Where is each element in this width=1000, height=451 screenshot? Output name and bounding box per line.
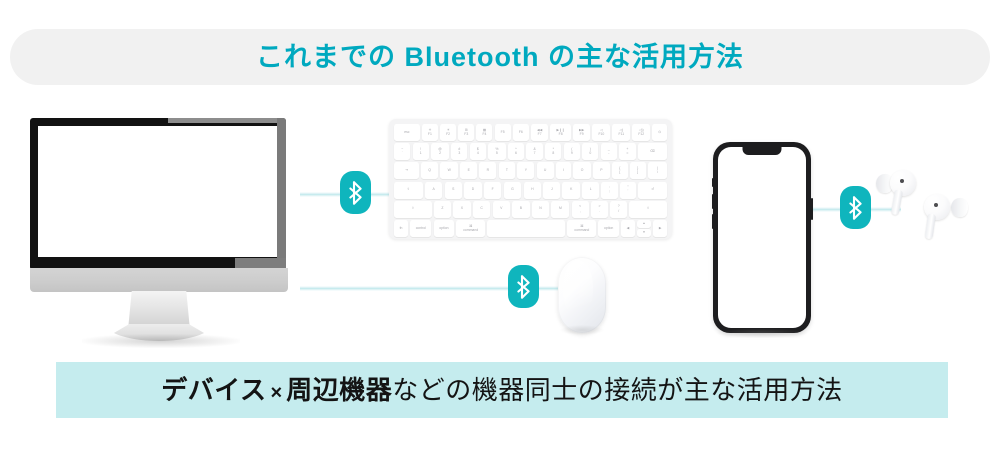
key-blank-1-13[interactable]: ⌫ bbox=[638, 143, 667, 160]
key-f6-0-6[interactable]: F6 bbox=[513, 124, 529, 141]
key-blank-1-4[interactable]: $4 bbox=[470, 143, 486, 160]
key-blank-4-0[interactable]: ⇧ bbox=[394, 201, 432, 218]
key-blank-1-12[interactable]: += bbox=[619, 143, 635, 160]
key-h-3-6[interactable]: H bbox=[524, 182, 542, 199]
key-option-5-6[interactable]: option bbox=[598, 220, 618, 237]
monitor-bezel-top-highlight bbox=[168, 118, 286, 123]
key-l-3-9[interactable]: L bbox=[582, 182, 599, 199]
desktop-monitor bbox=[30, 118, 311, 350]
keyboard-row-qwerty: ⇥QWERTYUIOP{[}]|\ bbox=[394, 162, 667, 179]
key-arrow-up[interactable]: ▲ bbox=[637, 220, 651, 228]
earbud-stem bbox=[891, 189, 903, 215]
caption-strong-1: デバイス bbox=[161, 375, 266, 405]
key-blank-0-1[interactable]: ☀F1 bbox=[422, 124, 438, 141]
wireless-earbuds bbox=[876, 170, 980, 246]
monitor-chin bbox=[30, 268, 288, 292]
key-x-4-2[interactable]: X bbox=[453, 201, 470, 218]
key-blank-4-8[interactable]: <, bbox=[572, 201, 589, 218]
key-blank-1-9[interactable]: (9 bbox=[564, 143, 580, 160]
key-option-5-2[interactable]: option bbox=[434, 220, 454, 237]
key-m-4-7[interactable]: M bbox=[551, 201, 569, 218]
key-fn-5-0[interactable]: fn bbox=[394, 220, 408, 237]
keyboard-row-home: ⇪ASDFGHJKL:;"'⏎ bbox=[394, 182, 667, 199]
key-arrow-down[interactable]: ▼ bbox=[637, 229, 651, 237]
connection-line-monitor-mouse bbox=[300, 286, 512, 291]
bluetooth-icon-monitor-mouse bbox=[508, 265, 539, 308]
header-pill: これまでの Bluetooth の主な活用方法 bbox=[10, 29, 990, 85]
key-n-4-6[interactable]: N bbox=[532, 201, 550, 218]
earbud-sensor-dot bbox=[900, 179, 904, 183]
key-a-3-1[interactable]: A bbox=[425, 182, 442, 199]
key-blank-2-0[interactable]: ⇥ bbox=[394, 162, 419, 179]
key-blank-1-5[interactable]: %5 bbox=[488, 143, 505, 160]
key-blank-1-10[interactable]: )0 bbox=[582, 143, 598, 160]
key-p-2-10[interactable]: P bbox=[593, 162, 610, 179]
caption-bar: デバイス×周辺機器などの機器同士の接続が主な活用方法 bbox=[56, 362, 948, 418]
key-blank-2-13[interactable]: |\ bbox=[648, 162, 667, 179]
key-blank-3-10[interactable]: :; bbox=[601, 182, 617, 199]
bluetooth-glyph bbox=[348, 181, 363, 205]
key-j-3-7[interactable]: J bbox=[543, 182, 560, 199]
phone-shadow bbox=[717, 328, 807, 338]
key-o-2-9[interactable]: O bbox=[573, 162, 590, 179]
phone-power-button bbox=[811, 198, 813, 220]
key-esc-0-0[interactable]: esc bbox=[394, 124, 420, 141]
monitor-bezel-right-edge bbox=[277, 118, 286, 270]
bluetooth-icon-monitor-keyboard bbox=[340, 171, 371, 214]
keyboard-row-shift: ⇧ZXCVBNM<,>.?/⇧ bbox=[394, 201, 667, 218]
key-blank-0-10[interactable]: ◁F10 bbox=[592, 124, 610, 141]
key-blank-5-3[interactable]: ⌘command bbox=[456, 220, 485, 237]
keyboard-row-function: esc☀F1☀F2⊞F3▦F4F5F6◀◀F7▶❙❙F8▶▶F9◁F10◁)F1… bbox=[394, 124, 667, 141]
key-i-2-8[interactable]: I bbox=[556, 162, 572, 179]
phone-volume-up-button bbox=[712, 194, 714, 209]
key-blank-4-11[interactable]: ⇧ bbox=[629, 201, 667, 218]
key-f5-0-5[interactable]: F5 bbox=[495, 124, 511, 141]
key-blank-1-2[interactable]: @2 bbox=[431, 143, 449, 160]
key-blank-0-3[interactable]: ⊞F3 bbox=[458, 124, 474, 141]
phone-notch bbox=[743, 147, 782, 155]
key-z-4-1[interactable]: Z bbox=[434, 201, 451, 218]
key-blank-1-11[interactable]: _- bbox=[601, 143, 617, 160]
monitor-screen bbox=[38, 126, 277, 257]
key-c-4-3[interactable]: C bbox=[473, 201, 491, 218]
key-t-2-5[interactable]: T bbox=[499, 162, 516, 179]
bluetooth-icon-phone-earbuds bbox=[840, 186, 871, 229]
monitor-shadow bbox=[82, 334, 240, 348]
key-blank-5-9[interactable]: ▶ bbox=[653, 220, 667, 237]
phone-mute-switch bbox=[712, 178, 714, 187]
key-blank-1-0[interactable]: ~` bbox=[394, 143, 410, 160]
smartphone bbox=[713, 142, 811, 333]
key-f-3-4[interactable]: F bbox=[484, 182, 501, 199]
key-u-2-7[interactable]: U bbox=[537, 162, 554, 179]
key-blank-0-4[interactable]: ▦F4 bbox=[476, 124, 492, 141]
key-r-2-4[interactable]: R bbox=[479, 162, 496, 179]
key-blank-3-12[interactable]: ⏎ bbox=[638, 182, 667, 199]
key-b-4-5[interactable]: B bbox=[512, 201, 529, 218]
key-y-2-6[interactable]: Y bbox=[517, 162, 534, 179]
caption-text: デバイス×周辺機器などの機器同士の接続が主な活用方法 bbox=[161, 377, 842, 403]
key-d-3-3[interactable]: D bbox=[464, 182, 482, 199]
wireless-keyboard: esc☀F1☀F2⊞F3▦F4F5F6◀◀F7▶❙❙F8▶▶F9◁F10◁)F1… bbox=[389, 119, 672, 239]
key-q-2-1[interactable]: Q bbox=[421, 162, 438, 179]
key-blank-2-12[interactable]: }] bbox=[630, 162, 646, 179]
key-v-4-4[interactable]: V bbox=[493, 201, 510, 218]
earbud-sensor-dot bbox=[934, 203, 938, 207]
earbud-stem bbox=[925, 213, 936, 239]
keyboard-row-modifiers: fncontroloption⌘command⌘commandoption◀▲▼… bbox=[394, 220, 667, 237]
infographic-root: これまでの Bluetooth の主な活用方法 esc☀F1☀F2⊞F3▦F4F… bbox=[0, 0, 1000, 451]
key-blank-0-2[interactable]: ☀F2 bbox=[440, 124, 456, 141]
key-blank-3-11[interactable]: "' bbox=[620, 182, 636, 199]
key-blank-1-3[interactable]: #3 bbox=[451, 143, 467, 160]
key-blank-1-7[interactable]: &7 bbox=[526, 143, 543, 160]
key-blank-2-11[interactable]: {[ bbox=[612, 162, 628, 179]
phone-volume-down-button bbox=[712, 214, 714, 229]
key-e-2-3[interactable]: E bbox=[460, 162, 477, 179]
earbud-tip bbox=[951, 198, 968, 217]
key-blank-0-9[interactable]: ▶▶F9 bbox=[573, 124, 590, 141]
key-blank-5-4[interactable] bbox=[487, 220, 565, 237]
wireless-mouse bbox=[558, 257, 606, 333]
earbud-right bbox=[914, 194, 968, 240]
phone-screen bbox=[718, 147, 806, 328]
key-g-3-5[interactable]: G bbox=[504, 182, 522, 199]
key-blank-4-10[interactable]: ?/ bbox=[610, 201, 627, 218]
key-blank-3-0[interactable]: ⇪ bbox=[394, 182, 423, 199]
key-k-3-8[interactable]: K bbox=[562, 182, 579, 199]
caption-strong-2: 周辺機器 bbox=[286, 375, 392, 405]
key-blank-0-7[interactable]: ◀◀F7 bbox=[531, 124, 548, 141]
bluetooth-glyph bbox=[848, 196, 863, 220]
key-s-3-2[interactable]: S bbox=[445, 182, 462, 199]
caption-times-symbol: × bbox=[267, 382, 287, 404]
key-blank-1-8[interactable]: *8 bbox=[545, 143, 561, 160]
page-title: これまでの Bluetooth の主な活用方法 bbox=[256, 44, 744, 71]
keyboard-row-numbers: ~`!1@2#3$4%5^6&7*8(9)0_-+=⌫ bbox=[394, 143, 667, 160]
mouse-shadow bbox=[560, 325, 604, 335]
mouse-highlight bbox=[563, 260, 593, 318]
key-blank-1-1[interactable]: !1 bbox=[413, 143, 429, 160]
key-arrow-updown[interactable]: ▲▼ bbox=[637, 220, 651, 237]
key-blank-0-12[interactable]: ◁))F12 bbox=[632, 124, 650, 141]
key-w-2-2[interactable]: W bbox=[440, 162, 458, 179]
bluetooth-glyph bbox=[516, 275, 531, 299]
key-blank-4-9[interactable]: >. bbox=[591, 201, 608, 218]
key-blank-5-5[interactable]: ⌘command bbox=[567, 220, 596, 237]
key-blank-0-13[interactable]: ⏻ bbox=[652, 124, 667, 141]
key-blank-0-11[interactable]: ◁)F11 bbox=[612, 124, 630, 141]
key-control-5-1[interactable]: control bbox=[410, 220, 431, 237]
key-blank-5-7[interactable]: ◀ bbox=[621, 220, 635, 237]
caption-rest: などの機器同士の接続が主な活用方法 bbox=[392, 375, 843, 405]
key-blank-1-6[interactable]: ^6 bbox=[508, 143, 524, 160]
key-blank-0-8[interactable]: ▶❙❙F8 bbox=[550, 124, 570, 141]
